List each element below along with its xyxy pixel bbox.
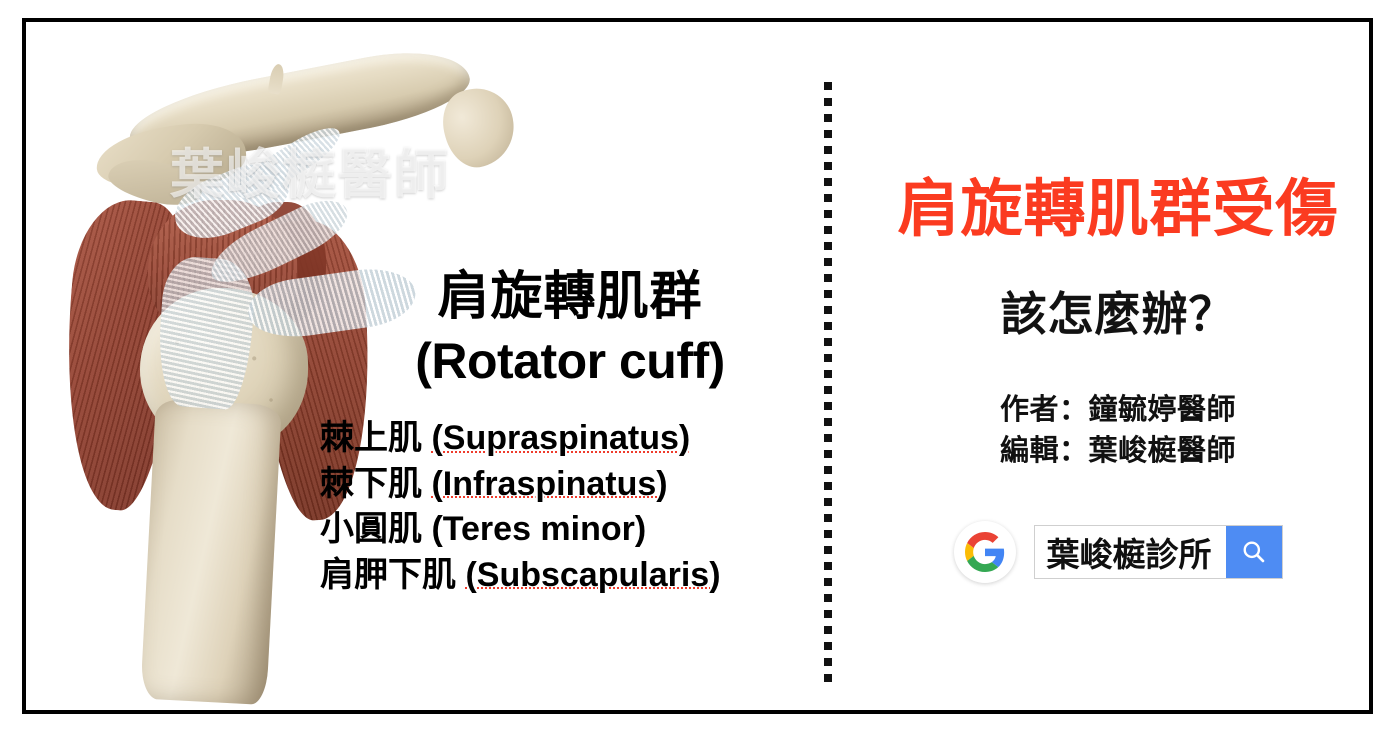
list-item: 肩胛下肌 (Subscapularis) xyxy=(320,553,820,599)
left-panel: 葉峻榳醫師 肩旋轉肌群 (Rotator cuff) 棘上肌 (Supraspi… xyxy=(52,44,822,732)
list-item: 棘下肌 (Infraspinatus) xyxy=(320,462,820,508)
search-input-container[interactable]: 葉峻榳診所 xyxy=(1034,525,1283,579)
search-input[interactable]: 葉峻榳診所 xyxy=(1035,526,1226,578)
muscle-name-chinese: 棘上肌 xyxy=(320,419,422,457)
humerus-shaft-bone xyxy=(140,399,282,705)
right-panel: 肩旋轉肌群受傷 該怎麼辦？ 作者：鐘毓婷醫師 編輯：葉峻榳醫師 葉峻榳診所 xyxy=(838,44,1394,732)
list-item: 小圓肌 (Teres minor) xyxy=(320,507,820,553)
credits-block: 作者：鐘毓婷醫師 編輯：葉峻榳醫師 xyxy=(838,390,1394,472)
list-item: 棘上肌 (Supraspinatus) xyxy=(320,416,820,462)
muscle-name-english: (Subscapularis) xyxy=(465,556,720,594)
page-subtitle: 該怎麼辦？ xyxy=(838,278,1394,344)
author-line: 作者：鐘毓婷醫師 xyxy=(838,390,1394,431)
google-search-widget[interactable]: 葉峻榳診所 xyxy=(838,521,1394,583)
page-title: 肩旋轉肌群受傷 xyxy=(838,176,1394,244)
muscle-name-english: (Teres minor) xyxy=(431,510,646,548)
google-logo-icon xyxy=(954,521,1016,583)
rotator-cuff-text-block: 肩旋轉肌群 (Rotator cuff) 棘上肌 (Supraspinatus)… xyxy=(320,268,820,614)
dotted-divider xyxy=(824,82,832,682)
editor-line: 編輯：葉峻榳醫師 xyxy=(838,431,1394,472)
muscle-name-english: (Infraspinatus) xyxy=(431,465,667,503)
rotator-cuff-muscle-list: 棘上肌 (Supraspinatus) 棘下肌 (Infraspinatus) … xyxy=(320,416,820,598)
search-icon xyxy=(1240,538,1267,565)
search-button[interactable] xyxy=(1226,526,1282,578)
poster-canvas: 葉峻榳醫師 肩旋轉肌群 (Rotator cuff) 棘上肌 (Supraspi… xyxy=(0,0,1394,734)
muscle-name-chinese: 小圓肌 xyxy=(320,510,422,548)
muscle-name-chinese: 棘下肌 xyxy=(320,465,422,503)
muscle-name-chinese: 肩胛下肌 xyxy=(320,556,456,594)
muscle-name-english: (Supraspinatus) xyxy=(431,419,690,457)
poster-frame: 葉峻榳醫師 肩旋轉肌群 (Rotator cuff) 棘上肌 (Supraspi… xyxy=(22,18,1373,714)
cuff-title-english: (Rotator cuff) xyxy=(320,331,820,392)
cuff-title-chinese: 肩旋轉肌群 xyxy=(320,268,820,327)
